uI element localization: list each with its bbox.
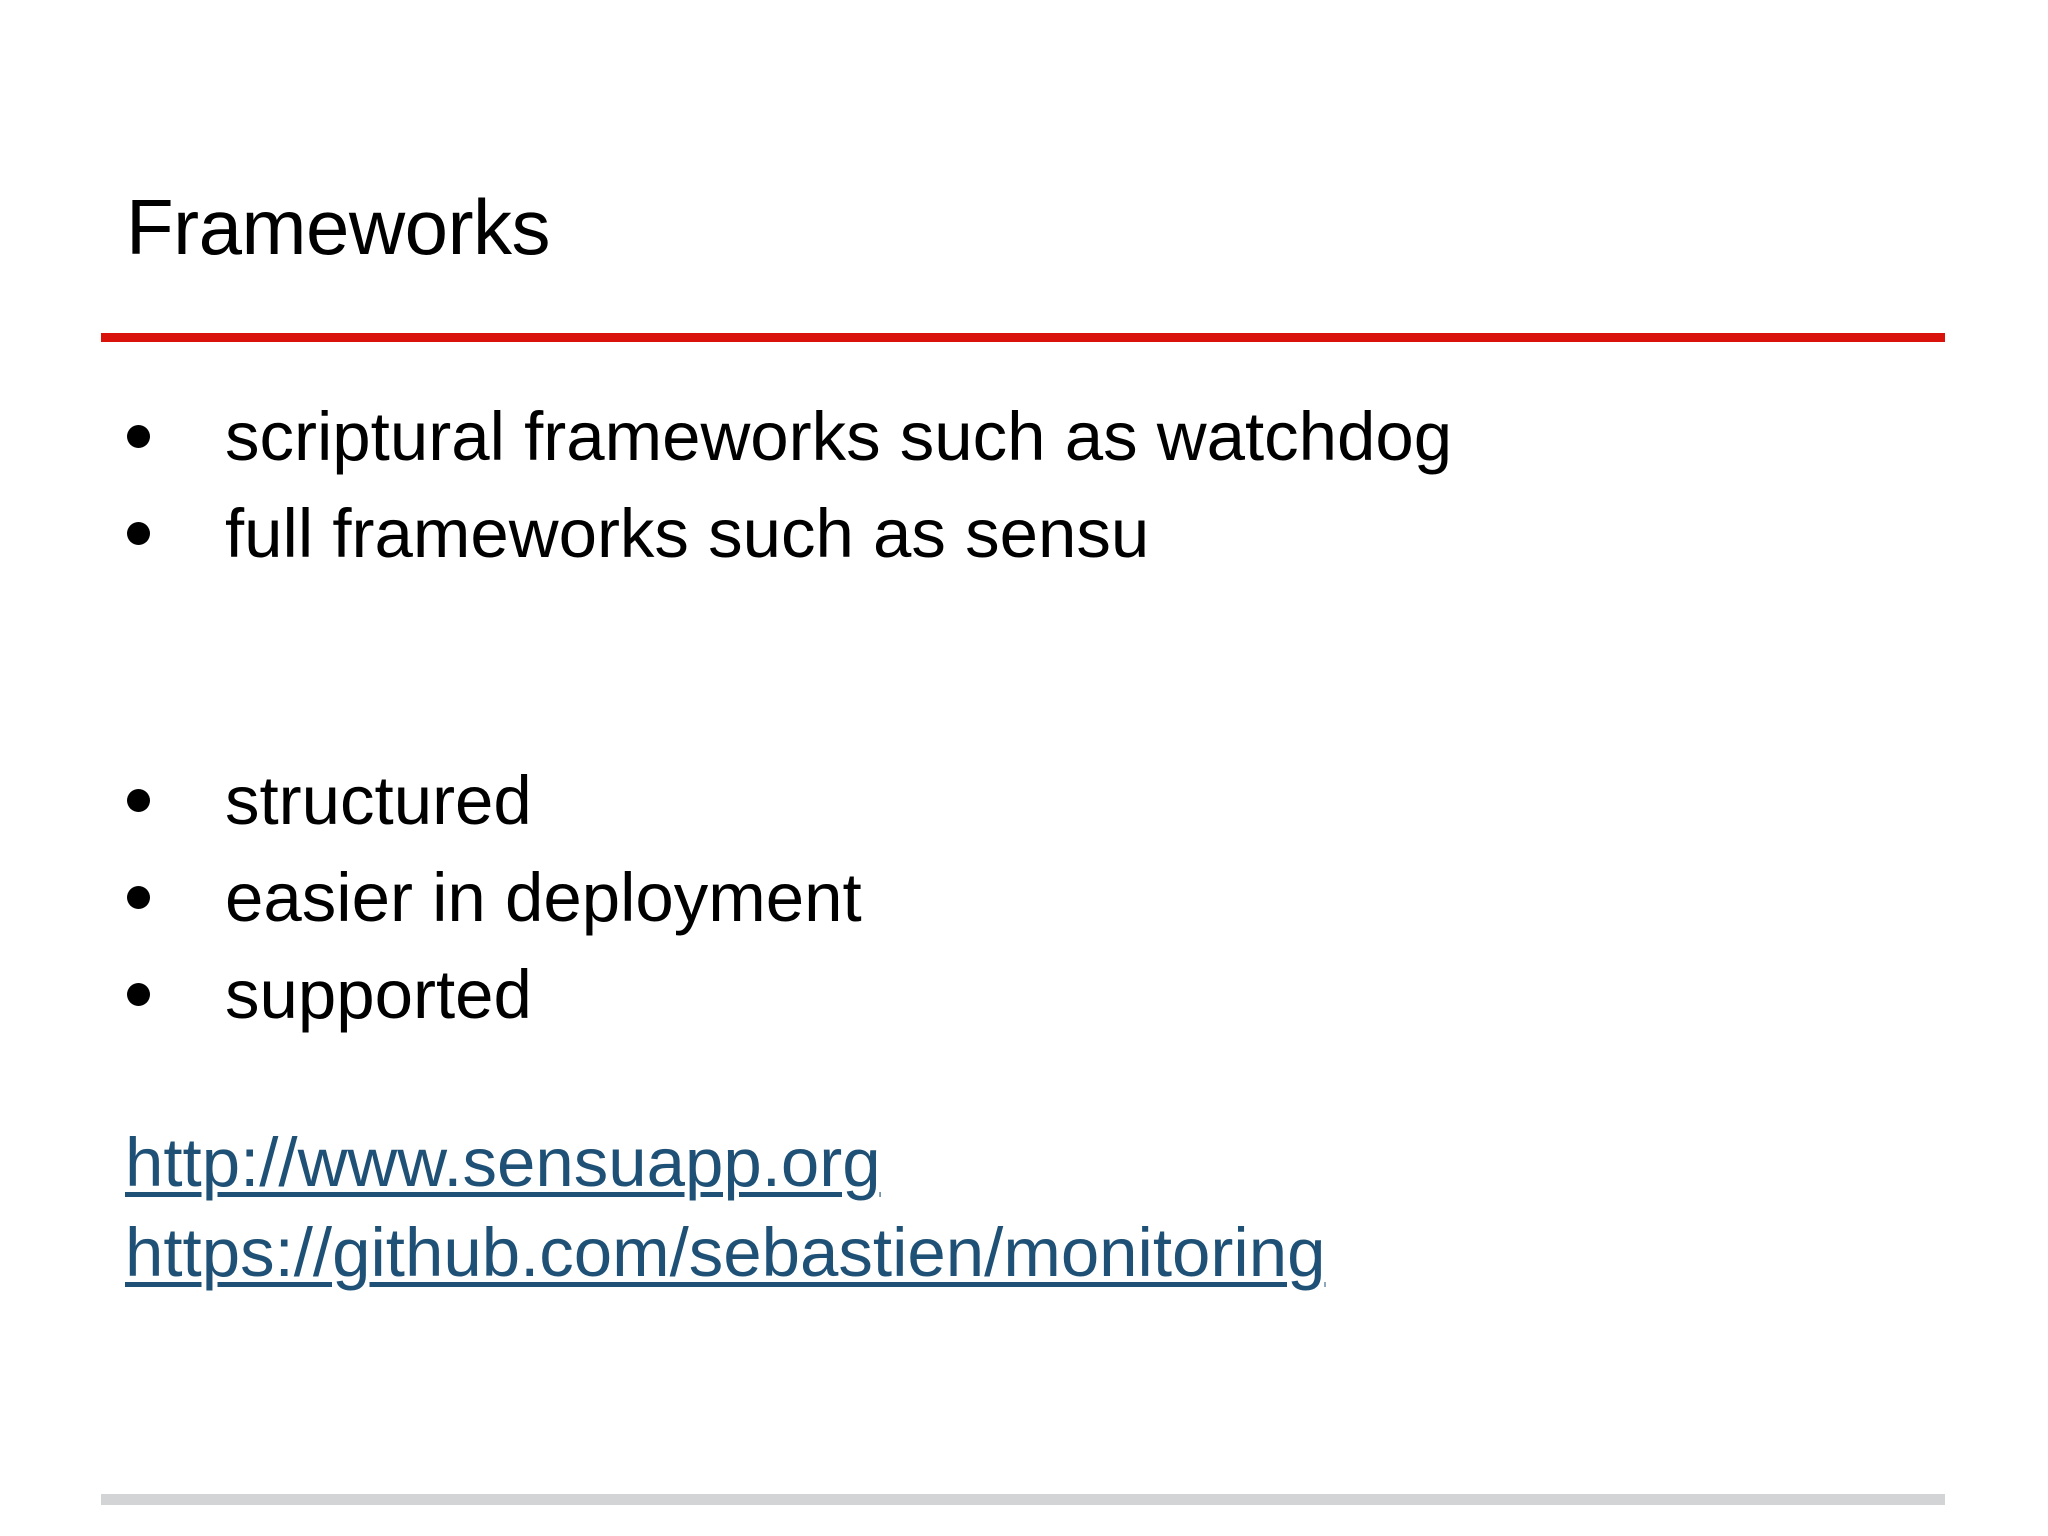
link-github-monitoring[interactable]: https://github.com/sebastien/monitoring <box>125 1214 1326 1291</box>
list-item[interactable]: full frameworks such as sensu <box>101 485 1961 582</box>
reference-links: http://www.sensuapp.org https://github.c… <box>101 1118 1961 1298</box>
list-item[interactable]: structured <box>101 752 1961 849</box>
link-sensuapp[interactable]: http://www.sensuapp.org <box>125 1124 881 1201</box>
list-item-label: easier in deployment <box>225 849 1961 946</box>
list-item-label: full frameworks such as sensu <box>225 485 1961 582</box>
list-item-label: structured <box>225 752 1961 849</box>
bullet-dot-icon <box>101 946 225 1043</box>
link-row: http://www.sensuapp.org <box>101 1118 1961 1208</box>
bullet-dot-icon <box>101 752 225 849</box>
page-title: Frameworks <box>126 188 550 266</box>
list-item[interactable]: scriptural frameworks such as watchdog <box>101 388 1961 485</box>
list-item[interactable]: easier in deployment <box>101 849 1961 946</box>
bullet-dot-icon <box>101 485 225 582</box>
bullet-dot-icon <box>101 388 225 485</box>
list-item-label: supported <box>225 946 1961 1043</box>
slide-body: scriptural frameworks such as watchdog f… <box>101 388 1961 1043</box>
bullet-group-spacer <box>101 582 1961 752</box>
list-item[interactable]: supported <box>101 946 1961 1043</box>
link-row: https://github.com/sebastien/monitoring <box>101 1208 1961 1298</box>
slide-canvas: Frameworks scriptural frameworks such as… <box>0 0 2048 1536</box>
bullet-group-2: structured easier in deployment supporte… <box>101 752 1961 1043</box>
title-accent-rule <box>101 333 1945 342</box>
list-item-label: scriptural frameworks such as watchdog <box>225 388 1961 485</box>
bullet-group-1: scriptural frameworks such as watchdog f… <box>101 388 1961 582</box>
footer-divider-bar <box>101 1494 1945 1505</box>
bullet-dot-icon <box>101 849 225 946</box>
